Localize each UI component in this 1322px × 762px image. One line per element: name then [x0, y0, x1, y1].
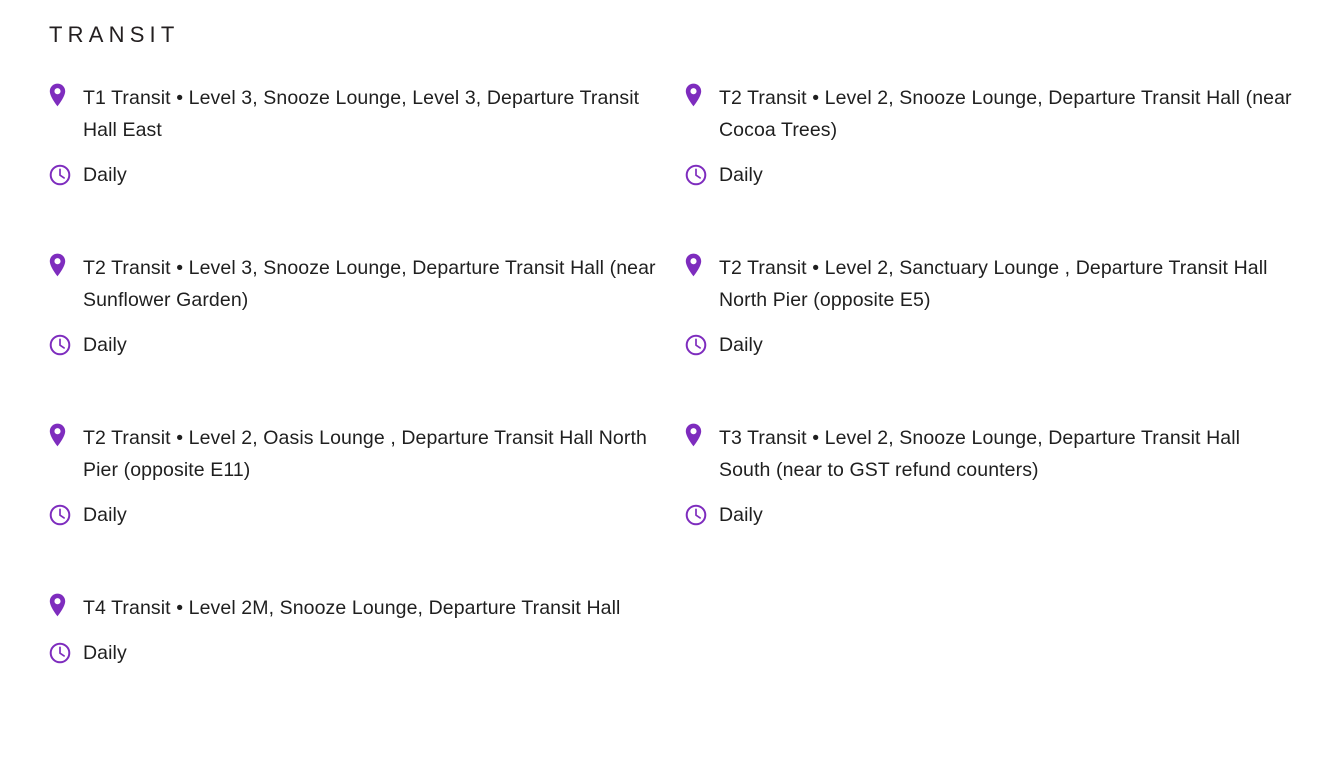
page-title: TRANSIT [49, 20, 180, 50]
clock-icon [49, 502, 83, 526]
list-item: T3 Transit • Level 2, Snooze Lounge, Dep… [685, 422, 1295, 592]
entry-hours-text: Daily [719, 502, 1295, 528]
entry-location-row: T2 Transit • Level 2, Snooze Lounge, Dep… [685, 82, 1295, 146]
entry-location-text: T3 Transit • Level 2, Snooze Lounge, Dep… [719, 422, 1295, 486]
entry-hours-row: Daily [49, 332, 659, 358]
clock-icon [49, 332, 83, 356]
clock-icon [685, 502, 719, 526]
map-pin-icon [685, 422, 719, 447]
clock-icon [49, 162, 83, 186]
entry-hours-row: Daily [49, 162, 659, 188]
entry-hours-text: Daily [719, 332, 1295, 358]
map-pin-icon [49, 592, 83, 617]
entry-hours-text: Daily [719, 162, 1295, 188]
list-item: T2 Transit • Level 2, Oasis Lounge , Dep… [49, 422, 659, 592]
empty-grid-cell [685, 592, 1295, 762]
clock-icon [685, 332, 719, 356]
map-pin-icon [49, 252, 83, 277]
entry-location-row: T3 Transit • Level 2, Snooze Lounge, Dep… [685, 422, 1295, 486]
map-pin-icon [49, 82, 83, 107]
entry-hours-text: Daily [83, 640, 659, 666]
entry-location-row: T2 Transit • Level 3, Snooze Lounge, Dep… [49, 252, 659, 316]
list-item: T2 Transit • Level 3, Snooze Lounge, Dep… [49, 252, 659, 422]
entry-location-text: T4 Transit • Level 2M, Snooze Lounge, De… [83, 592, 659, 624]
entry-location-text: T2 Transit • Level 2, Sanctuary Lounge ,… [719, 252, 1295, 316]
list-item: T1 Transit • Level 3, Snooze Lounge, Lev… [49, 82, 659, 252]
entry-location-text: T1 Transit • Level 3, Snooze Lounge, Lev… [83, 82, 659, 146]
map-pin-icon [49, 422, 83, 447]
entry-hours-row: Daily [685, 162, 1295, 188]
entry-hours-row: Daily [49, 502, 659, 528]
map-pin-icon [685, 252, 719, 277]
entry-hours-text: Daily [83, 502, 659, 528]
entry-location-row: T2 Transit • Level 2, Oasis Lounge , Dep… [49, 422, 659, 486]
clock-icon [49, 640, 83, 664]
list-item: T4 Transit • Level 2M, Snooze Lounge, De… [49, 592, 659, 762]
entry-hours-row: Daily [49, 640, 659, 666]
transit-locations-page: TRANSIT T1 Transit • Level 3, Snooze Lou… [0, 0, 1322, 700]
entry-location-row: T2 Transit • Level 2, Sanctuary Lounge ,… [685, 252, 1295, 316]
clock-icon [685, 162, 719, 186]
entry-location-row: T4 Transit • Level 2M, Snooze Lounge, De… [49, 592, 659, 624]
entry-hours-text: Daily [83, 162, 659, 188]
entry-location-text: T2 Transit • Level 2, Snooze Lounge, Dep… [719, 82, 1295, 146]
entry-hours-text: Daily [83, 332, 659, 358]
list-item: T2 Transit • Level 2, Sanctuary Lounge ,… [685, 252, 1295, 422]
transit-entries-grid: T1 Transit • Level 3, Snooze Lounge, Lev… [0, 82, 1322, 762]
entry-hours-row: Daily [685, 502, 1295, 528]
list-item: T2 Transit • Level 2, Snooze Lounge, Dep… [685, 82, 1295, 252]
entry-hours-row: Daily [685, 332, 1295, 358]
entry-location-row: T1 Transit • Level 3, Snooze Lounge, Lev… [49, 82, 659, 146]
map-pin-icon [685, 82, 719, 107]
entry-location-text: T2 Transit • Level 2, Oasis Lounge , Dep… [83, 422, 659, 486]
entry-location-text: T2 Transit • Level 3, Snooze Lounge, Dep… [83, 252, 659, 316]
